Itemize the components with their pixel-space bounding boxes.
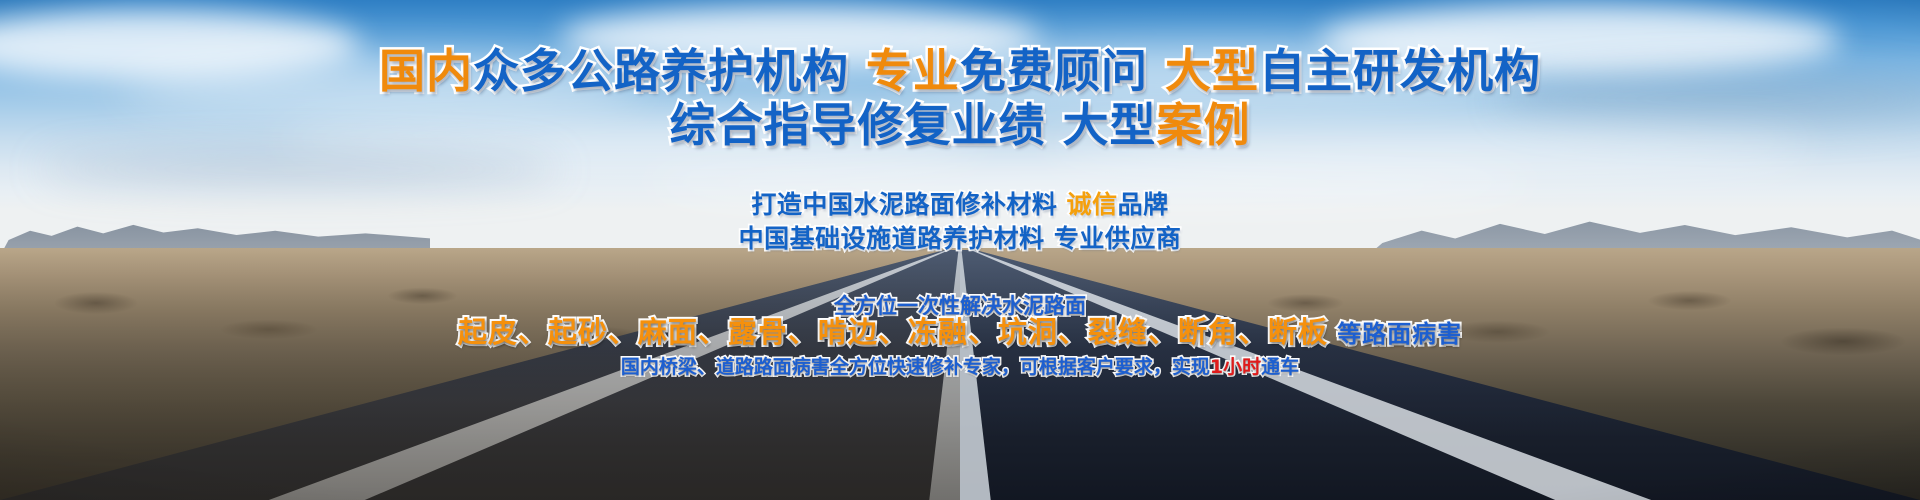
text-run: 起皮、起砂、麻面、露骨、啃边、冻融、坑洞、裂缝、断角、断板: [458, 315, 1328, 349]
footer-line-2-defect-list: 起皮、起砂、麻面、露骨、啃边、冻融、坑洞、裂缝、断角、断板 等路面病害: [0, 318, 1920, 347]
text-run: 自主研发机构: [1259, 44, 1541, 98]
text-run: 大型: [1063, 98, 1157, 152]
text-run: 案例: [1157, 98, 1251, 152]
text-run: 综合指导修复业绩: [669, 98, 1045, 152]
text-run: 品牌: [1118, 190, 1169, 219]
text-run: 众多公路养护机构: [473, 44, 849, 98]
text-run: [1045, 98, 1062, 152]
text-run: 诚信: [1067, 190, 1118, 219]
text-run: [1057, 190, 1066, 219]
banner-copy: 国内众多公路养护机构 专业免费顾问 大型自主研发机构 综合指导修复业绩 大型案例…: [0, 0, 1920, 500]
text-run: 国内桥梁、道路路面病害全方位快速修补专家，可根据客户要求，实现: [621, 356, 1210, 378]
text-run: 中国基础设施道路养护材料 专业供应商: [739, 224, 1182, 253]
footer-line-3: 国内桥梁、道路路面病害全方位快速修补专家，可根据客户要求，实现1小时通车: [0, 358, 1920, 377]
footer-line-1: 全方位一次性解决水泥路面: [0, 296, 1920, 317]
promotional-banner: 国内众多公路养护机构 专业免费顾问 大型自主研发机构 综合指导修复业绩 大型案例…: [0, 0, 1920, 500]
subheadline-line-2: 中国基础设施道路养护材料 专业供应商: [0, 226, 1920, 251]
text-run: 免费顾问: [960, 44, 1148, 98]
text-run: 专业: [866, 44, 960, 98]
headline-line-2: 综合指导修复业绩 大型案例: [0, 102, 1920, 148]
text-run: [1328, 320, 1337, 348]
text-run: 等路面病害: [1337, 320, 1462, 348]
text-run: 1小时: [1210, 356, 1261, 378]
subheadline-line-1: 打造中国水泥路面修补材料 诚信品牌: [0, 192, 1920, 217]
headline-line-1: 国内众多公路养护机构 专业免费顾问 大型自主研发机构: [0, 48, 1920, 94]
text-run: [849, 44, 866, 98]
text-run: 国内: [379, 44, 473, 98]
text-run: 大型: [1165, 44, 1259, 98]
text-run: 通车: [1261, 356, 1299, 378]
text-run: [1148, 44, 1165, 98]
text-run: 打造中国水泥路面修补材料: [751, 190, 1057, 219]
